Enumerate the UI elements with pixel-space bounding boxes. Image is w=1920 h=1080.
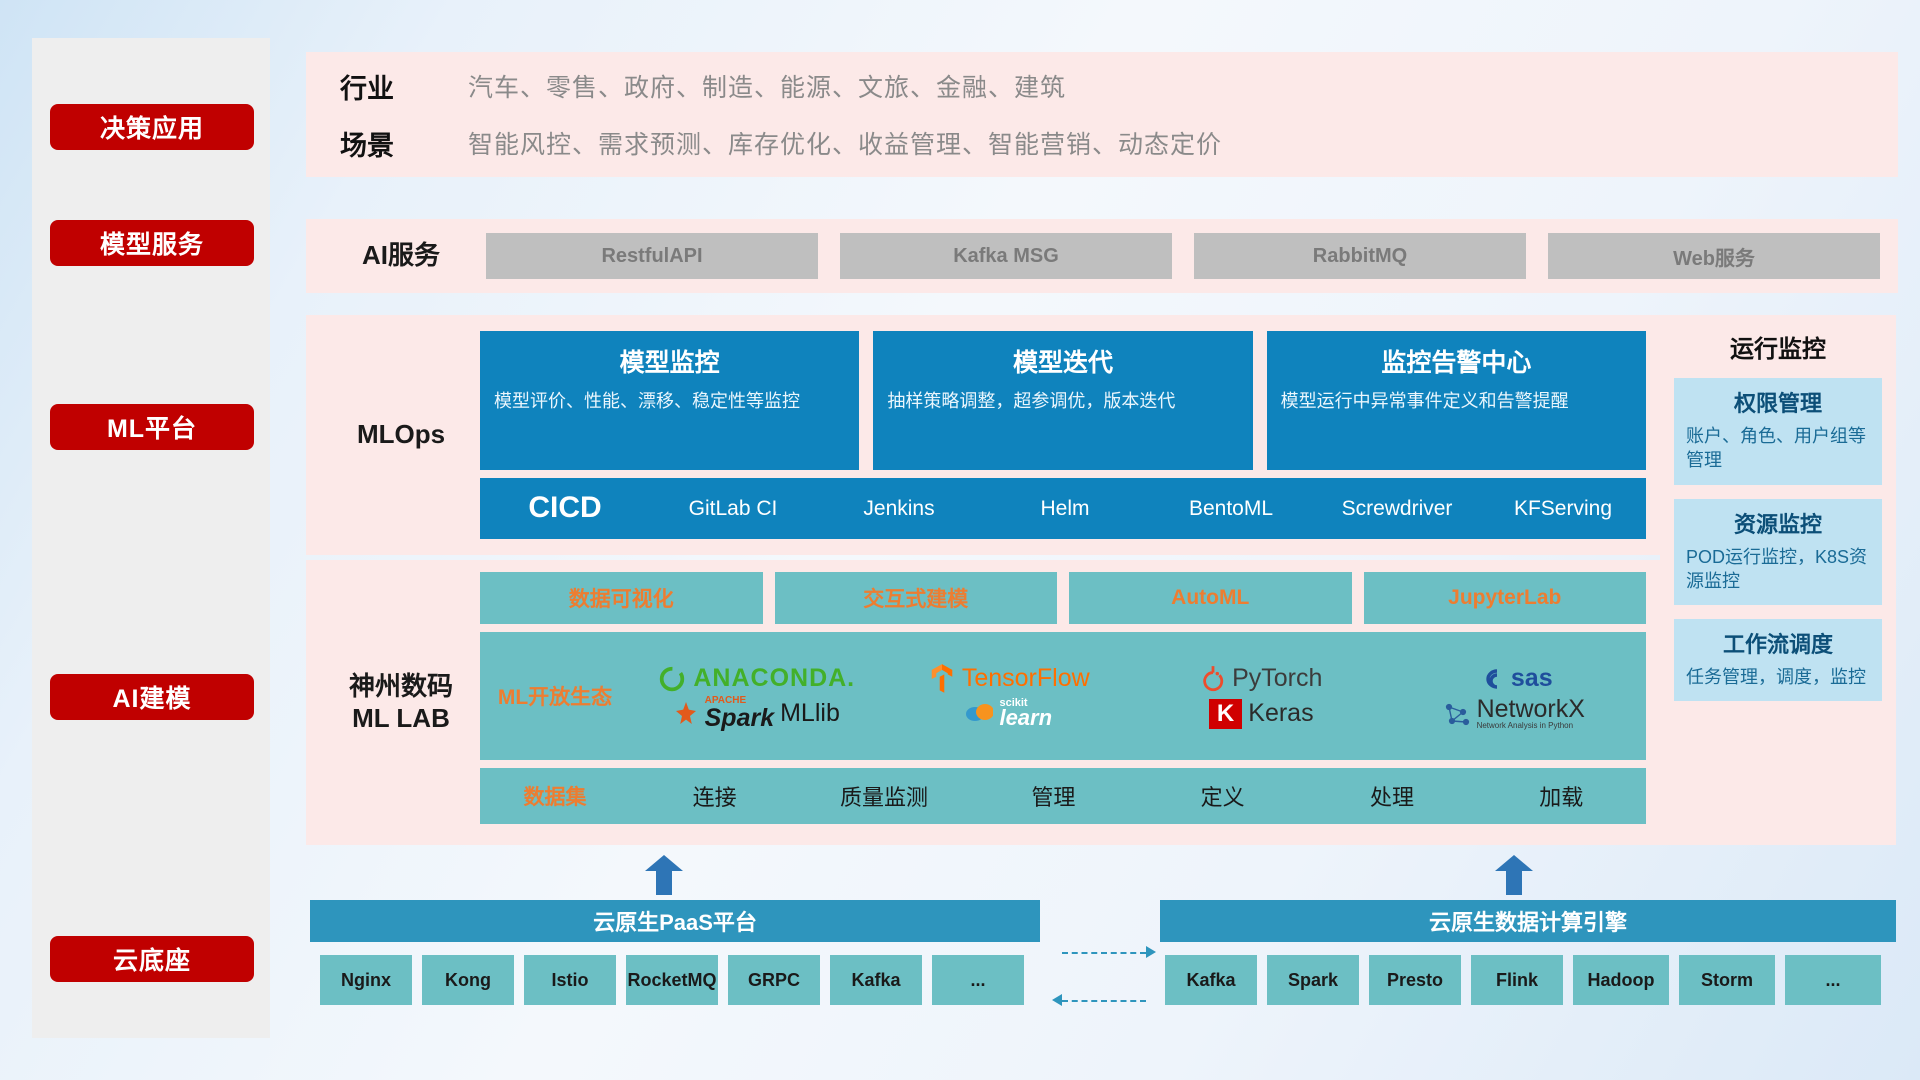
paas-tag-row: Nginx Kong Istio RocketMQ GRPC Kafka ...	[320, 955, 1024, 1005]
runtime-monitoring-title: 运行监控	[1730, 329, 1826, 364]
paas-tag-more[interactable]: ...	[932, 955, 1024, 1005]
rail-item-ml-platform[interactable]: ML平台	[50, 404, 254, 450]
paas-tag-istio[interactable]: Istio	[524, 955, 616, 1005]
tensorflow-icon	[928, 663, 956, 695]
card-desc: 抽样策略调整，超参调优，版本迭代	[887, 389, 1238, 413]
engine-tag-hadoop[interactable]: Hadoop	[1573, 955, 1669, 1005]
scenario-label: 场景	[340, 124, 468, 163]
left-legend-rail: 决策应用 模型服务 ML平台 AI建模 云底座	[32, 38, 270, 1038]
rail-label: 云底座	[113, 941, 191, 977]
rail-label: 模型服务	[100, 225, 204, 261]
logo-tensorflow[interactable]: TensorFlow	[928, 663, 1090, 695]
ai-services-band: AI服务 RestfulAPI Kafka MSG RabbitMQ Web服务	[306, 219, 1898, 293]
card-title: 监控告警中心	[1381, 343, 1531, 379]
logo-label: sas	[1511, 664, 1553, 693]
logo-label: NetworkX	[1477, 697, 1585, 722]
paas-tag-kafka[interactable]: Kafka	[830, 955, 922, 1005]
cicd-title: CICD	[480, 491, 650, 525]
architecture-diagram: 决策应用 模型服务 ML平台 AI建模 云底座 行业 汽车、零售、政府、制造、能…	[0, 0, 1920, 1080]
modeling-tab-data-visualization[interactable]: 数据可视化	[480, 572, 763, 624]
logo-anaconda[interactable]: ANACONDA.	[657, 664, 855, 694]
dataset-item-connect[interactable]: 连接	[630, 780, 799, 812]
cloud-native-paas-bar[interactable]: 云原生PaaS平台	[310, 900, 1040, 942]
upward-arrow-paas	[645, 855, 683, 895]
dashed-link-left	[1062, 1000, 1146, 1002]
rail-label: 决策应用	[100, 109, 204, 145]
engine-tag-storm[interactable]: Storm	[1679, 955, 1775, 1005]
card-desc: 模型评价、性能、漂移、稳定性等监控	[494, 389, 845, 413]
keras-icon: K	[1209, 699, 1242, 729]
engine-tag-more[interactable]: ...	[1785, 955, 1881, 1005]
engine-tag-row: Kafka Spark Presto Flink Hadoop Storm ..…	[1165, 955, 1881, 1005]
paas-tag-rocketmq[interactable]: RocketMQ	[626, 955, 718, 1005]
mon-card-desc: 账户、角色、用户组等管理	[1686, 424, 1870, 473]
tab-label: 数据可视化	[569, 583, 674, 613]
dataset-row: 数据集 连接 质量监测 管理 定义 处理 加载	[480, 768, 1646, 824]
rail-item-cloud-foundation[interactable]: 云底座	[50, 936, 254, 982]
spark-label: Spark	[705, 706, 774, 731]
engine-tag-flink[interactable]: Flink	[1471, 955, 1563, 1005]
logo-scikit-learn[interactable]: scikit learn	[965, 698, 1052, 729]
ml-ecosystem-label: ML开放生态	[480, 681, 630, 711]
dataset-item-load[interactable]: 加载	[1477, 780, 1646, 812]
logo-label: PyTorch	[1232, 664, 1322, 693]
dataset-item-process[interactable]: 处理	[1307, 780, 1476, 812]
logo-spark-mllib[interactable]: APACHE Spark MLlib	[673, 696, 840, 731]
paas-title: 云原生PaaS平台	[593, 905, 757, 937]
chip-label: RestfulAPI	[601, 245, 702, 268]
mon-card-desc: 任务管理，调度，监控	[1686, 665, 1870, 689]
logo-networkx[interactable]: NetworkX Network Analysis in Python	[1443, 697, 1585, 730]
pytorch-icon	[1200, 664, 1226, 694]
ml-lab-label: 神州数码 ML LAB	[326, 560, 476, 845]
learn-label: learn	[999, 708, 1052, 729]
card-title: 模型迭代	[1013, 343, 1113, 379]
mlops-card-model-iteration[interactable]: 模型迭代 抽样策略调整，超参调优，版本迭代	[873, 331, 1252, 470]
rail-item-ai-modeling[interactable]: AI建模	[50, 674, 254, 720]
dataset-item-define[interactable]: 定义	[1138, 780, 1307, 812]
logo-pytorch[interactable]: PyTorch	[1200, 664, 1322, 694]
ai-services-label: AI服务	[326, 240, 476, 271]
ml-lab-label-line2: ML LAB	[349, 703, 453, 734]
ml-ecosystem-row: ML开放生态 ANACONDA.	[480, 632, 1646, 760]
mlops-card-alert-center[interactable]: 监控告警中心 模型运行中异常事件定义和告警提醒	[1267, 331, 1646, 470]
industry-values: 汽车、零售、政府、制造、能源、文旅、金融、建筑	[468, 68, 1066, 104]
service-chip-rabbitmq[interactable]: RabbitMQ	[1194, 233, 1526, 279]
sas-icon	[1475, 665, 1505, 693]
ai-modeling-band: 神州数码 ML LAB 数据可视化 交互式建模 AutoML JupyterLa…	[306, 560, 1660, 845]
mlops-card-model-monitoring[interactable]: 模型监控 模型评价、性能、漂移、稳定性等监控	[480, 331, 859, 470]
logo-label: Keras	[1248, 699, 1313, 728]
dashed-arrowhead-right	[1146, 946, 1156, 958]
networkx-subtitle: Network Analysis in Python	[1477, 722, 1585, 730]
scikit-learn-icon	[965, 700, 993, 726]
card-title: 模型监控	[620, 343, 720, 379]
rail-item-decision-apps[interactable]: 决策应用	[50, 104, 254, 150]
scenario-values: 智能风控、需求预测、库存优化、收益管理、智能营销、动态定价	[468, 125, 1222, 161]
chip-label: Web服务	[1673, 242, 1755, 271]
industry-label: 行业	[340, 67, 468, 106]
dashed-link-right	[1062, 952, 1146, 954]
upward-arrow-engine	[1495, 855, 1533, 895]
cicd-tool-kfserving[interactable]: KFServing	[1480, 498, 1646, 519]
mlops-label: MLOps	[326, 315, 476, 555]
tab-label: JupyterLab	[1448, 586, 1561, 610]
networkx-icon	[1443, 700, 1471, 728]
service-chip-restfulapi[interactable]: RestfulAPI	[486, 233, 818, 279]
engine-title: 云原生数据计算引擎	[1429, 905, 1627, 937]
rail-label: ML平台	[107, 409, 197, 445]
cicd-tool-helm[interactable]: Helm	[982, 498, 1148, 519]
mon-card-title: 资源监控	[1734, 507, 1822, 539]
mon-card-desc: POD运行监控，K8S资源监控	[1686, 545, 1870, 594]
card-desc: 模型运行中异常事件定义和告警提醒	[1281, 389, 1632, 413]
chip-label: RabbitMQ	[1313, 245, 1407, 268]
dataset-item-manage[interactable]: 管理	[969, 780, 1138, 812]
logo-label: TensorFlow	[962, 664, 1090, 693]
chip-label: Kafka MSG	[953, 245, 1059, 268]
logo-label: ANACONDA.	[693, 664, 855, 693]
rail-label: AI建模	[112, 679, 191, 715]
service-chip-kafka-msg[interactable]: Kafka MSG	[840, 233, 1172, 279]
dataset-label: 数据集	[480, 781, 630, 811]
ml-lab-label-line1: 神州数码	[349, 671, 453, 702]
runtime-monitoring-column: 运行监控 权限管理 账户、角色、用户组等管理 资源监控 POD运行监控，K8S资…	[1660, 315, 1896, 845]
paas-tag-nginx[interactable]: Nginx	[320, 955, 412, 1005]
modeling-tab-automl[interactable]: AutoML	[1069, 572, 1352, 624]
industry-row: 行业 汽车、零售、政府、制造、能源、文旅、金融、建筑	[340, 67, 1898, 106]
modeling-tab-jupyterlab[interactable]: JupyterLab	[1364, 572, 1647, 624]
cicd-tool-screwdriver[interactable]: Screwdriver	[1314, 498, 1480, 519]
modeling-tab-interactive-modeling[interactable]: 交互式建模	[775, 572, 1058, 624]
mlops-band: MLOps 模型监控 模型评价、性能、漂移、稳定性等监控 模型迭代 抽样策略调整…	[306, 315, 1660, 555]
paas-tag-grpc[interactable]: GRPC	[728, 955, 820, 1005]
apache-spark-icon	[673, 700, 699, 728]
tab-label: 交互式建模	[863, 583, 968, 613]
mllib-label: MLlib	[780, 699, 840, 728]
paas-tag-kong[interactable]: Kong	[422, 955, 514, 1005]
service-chip-web-service[interactable]: Web服务	[1548, 233, 1880, 279]
engine-tag-kafka[interactable]: Kafka	[1165, 955, 1257, 1005]
cicd-toolbar: CICD GitLab CI Jenkins Helm BentoML Scre…	[480, 478, 1646, 539]
logo-sas[interactable]: sas	[1475, 664, 1553, 693]
mon-card-permission-management[interactable]: 权限管理 账户、角色、用户组等管理	[1674, 378, 1882, 485]
cicd-tool-jenkins[interactable]: Jenkins	[816, 498, 982, 519]
engine-tag-presto[interactable]: Presto	[1369, 955, 1461, 1005]
engine-tag-spark[interactable]: Spark	[1267, 955, 1359, 1005]
rail-item-model-service[interactable]: 模型服务	[50, 220, 254, 266]
decision-applications-band: 行业 汽车、零售、政府、制造、能源、文旅、金融、建筑 场景 智能风控、需求预测、…	[306, 52, 1898, 177]
mon-card-resource-monitoring[interactable]: 资源监控 POD运行监控，K8S资源监控	[1674, 499, 1882, 606]
cicd-tool-gitlab-ci[interactable]: GitLab CI	[650, 498, 816, 519]
dashed-arrowhead-left	[1052, 994, 1062, 1006]
dataset-item-quality-monitoring[interactable]: 质量监测	[799, 780, 968, 812]
cloud-native-data-engine-bar[interactable]: 云原生数据计算引擎	[1160, 900, 1896, 942]
anaconda-icon	[657, 664, 687, 694]
mon-card-workflow-scheduling[interactable]: 工作流调度 任务管理，调度，监控	[1674, 619, 1882, 701]
cicd-tool-bentoml[interactable]: BentoML	[1148, 498, 1314, 519]
tab-label: AutoML	[1171, 586, 1249, 610]
logo-keras[interactable]: K Keras	[1209, 699, 1314, 729]
mon-card-title: 权限管理	[1734, 386, 1822, 418]
mon-card-title: 工作流调度	[1723, 627, 1833, 659]
scenario-row: 场景 智能风控、需求预测、库存优化、收益管理、智能营销、动态定价	[340, 124, 1898, 163]
